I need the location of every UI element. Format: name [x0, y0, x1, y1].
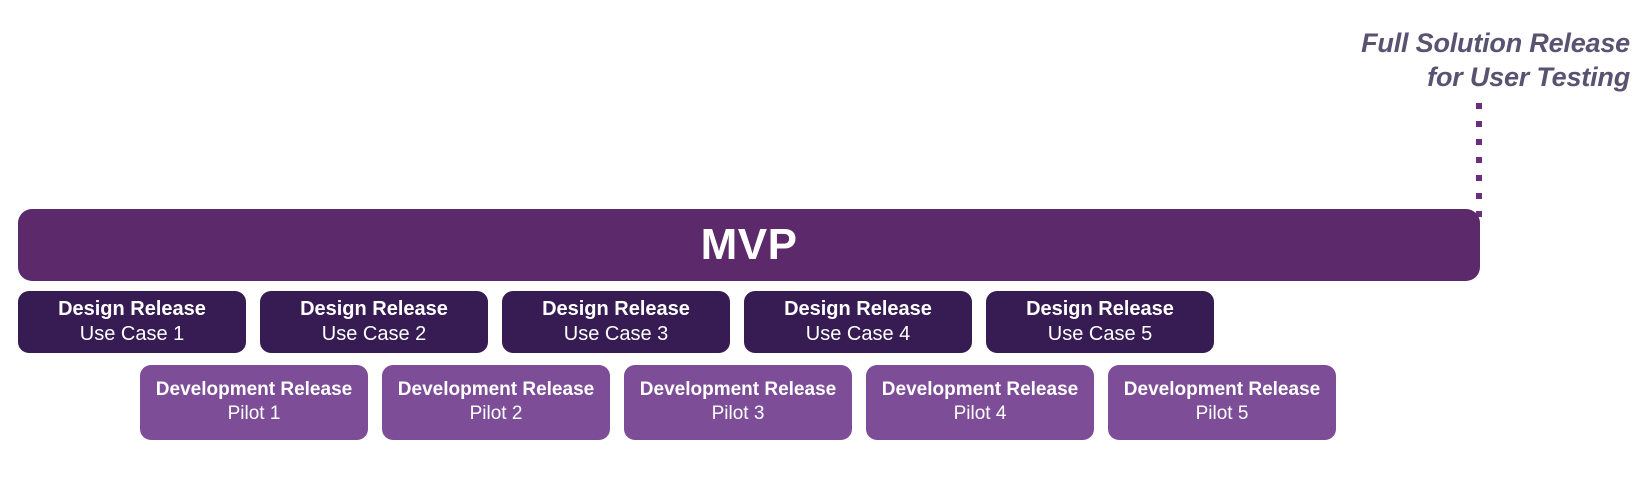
- development-release-card[interactable]: Development ReleasePilot 1: [140, 365, 368, 440]
- development-release-card[interactable]: Development ReleasePilot 5: [1108, 365, 1336, 440]
- design-release-card[interactable]: Design ReleaseUse Case 2: [260, 291, 488, 353]
- connector-dot: [1476, 193, 1482, 199]
- connector-dot: [1476, 121, 1482, 127]
- design-release-subtitle: Use Case 4: [806, 322, 911, 346]
- design-release-card[interactable]: Design ReleaseUse Case 1: [18, 291, 246, 353]
- development-release-row: Development ReleasePilot 1Development Re…: [140, 365, 1336, 440]
- release-roadmap-diagram: Full Solution Release for User Testing M…: [0, 0, 1648, 504]
- design-release-subtitle: Use Case 1: [80, 322, 185, 346]
- design-release-card[interactable]: Design ReleaseUse Case 4: [744, 291, 972, 353]
- development-release-subtitle: Pilot 1: [228, 403, 281, 426]
- design-release-subtitle: Use Case 3: [564, 322, 669, 346]
- connector-dot: [1476, 175, 1482, 181]
- connector-dot: [1476, 139, 1482, 145]
- design-release-title: Design Release: [784, 298, 932, 321]
- mvp-bar[interactable]: MVP: [18, 209, 1480, 281]
- design-release-card[interactable]: Design ReleaseUse Case 3: [502, 291, 730, 353]
- development-release-title: Development Release: [882, 379, 1078, 401]
- connector-dot: [1476, 157, 1482, 163]
- design-release-card[interactable]: Design ReleaseUse Case 5: [986, 291, 1214, 353]
- development-release-title: Development Release: [398, 379, 594, 401]
- mvp-label: MVP: [701, 220, 798, 270]
- design-release-title: Design Release: [542, 298, 690, 321]
- design-release-title: Design Release: [300, 298, 448, 321]
- development-release-card[interactable]: Development ReleasePilot 4: [866, 365, 1094, 440]
- development-release-card[interactable]: Development ReleasePilot 3: [624, 365, 852, 440]
- design-release-title: Design Release: [1026, 298, 1174, 321]
- design-release-title: Design Release: [58, 298, 206, 321]
- design-release-subtitle: Use Case 5: [1048, 322, 1153, 346]
- development-release-card[interactable]: Development ReleasePilot 2: [382, 365, 610, 440]
- full-solution-release-annotation: Full Solution Release for User Testing: [1110, 26, 1630, 94]
- development-release-title: Development Release: [156, 379, 352, 401]
- development-release-title: Development Release: [1124, 379, 1320, 401]
- design-release-subtitle: Use Case 2: [322, 322, 427, 346]
- development-release-subtitle: Pilot 5: [1196, 403, 1249, 426]
- development-release-subtitle: Pilot 4: [954, 403, 1007, 426]
- design-release-row: Design ReleaseUse Case 1Design ReleaseUs…: [18, 291, 1214, 353]
- connector-dot: [1476, 103, 1482, 109]
- development-release-title: Development Release: [640, 379, 836, 401]
- development-release-subtitle: Pilot 2: [470, 403, 523, 426]
- development-release-subtitle: Pilot 3: [712, 403, 765, 426]
